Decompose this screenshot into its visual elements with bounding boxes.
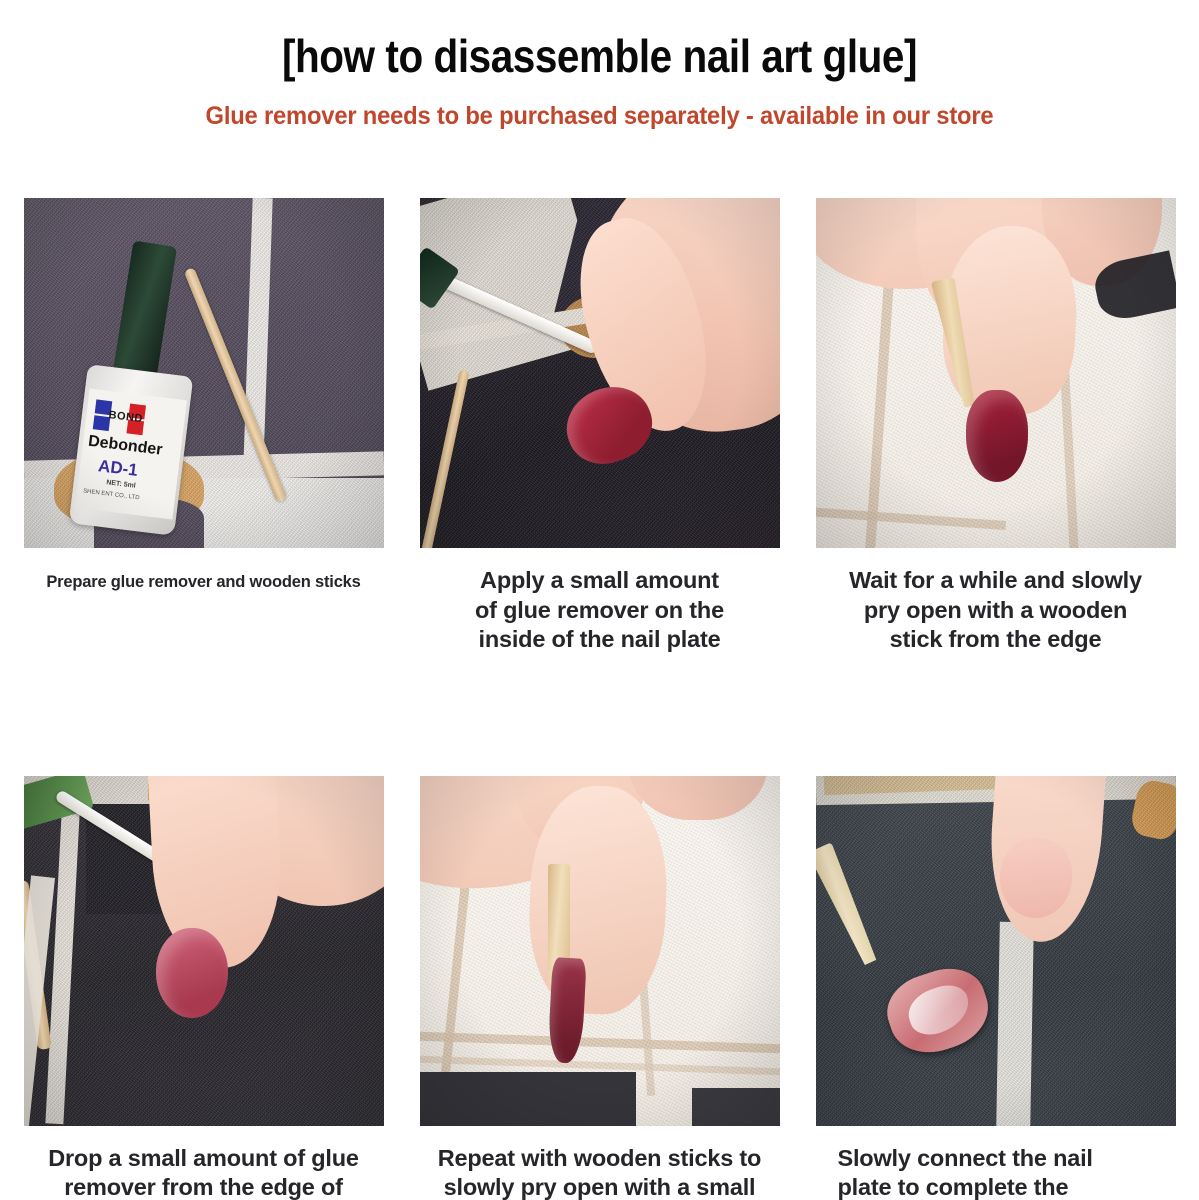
infographic-page: [how to disassemble nail art glue] Glue … [0,0,1199,1200]
caption-line: stick from the edge [820,625,1172,655]
photo-pry-open-with-stick [816,198,1176,548]
caption-line: Apply a small amount [424,566,776,596]
mat-dark-square [692,1088,780,1126]
caption-line: Slowly connect the nail [838,1144,1172,1174]
bottle-label: BOND Debonder AD-1 NET: 5ml SHEN ENT CO.… [75,388,187,519]
page-title: [how to disassemble nail art glue] [72,32,1127,80]
step-card-4: Drop a small amount of glue remover from… [24,776,384,1200]
caption-line: slowly pry open with a small [424,1173,776,1200]
caption-line: inside of the nail plate [424,625,776,655]
caption-line: of glue remover on the [424,596,776,626]
step-card-3: Wait for a while and slowly pry open wit… [816,198,1176,655]
page-subtitle: Glue remover needs to be purchased separ… [30,102,1169,131]
photo-nail-plate-removed [816,776,1176,1126]
steps-grid: BOND Debonder AD-1 NET: 5ml SHEN ENT CO.… [0,198,1199,1200]
nail [966,390,1028,482]
photo-apply-glue-remover [420,198,780,548]
step-card-6: Slowly connect the nail plate to complet… [816,776,1176,1200]
caption-line: Repeat with wooden sticks to [424,1144,776,1174]
mat-band [996,922,1034,1126]
step-card-2: Apply a small amount of glue remover on … [420,198,780,655]
header: [how to disassemble nail art glue] Glue … [0,0,1199,131]
caption-line: Drop a small amount of glue [28,1144,380,1174]
photo-glue-remover-and-sticks: BOND Debonder AD-1 NET: 5ml SHEN ENT CO.… [24,198,384,548]
step-caption-1: Prepare glue remover and wooden sticks [24,572,384,593]
bottle-net: NET: 5ml [105,479,135,490]
caption-line: plate to complete the [838,1173,1172,1200]
step-caption-5: Repeat with wooden sticks to slowly pry … [420,1144,780,1200]
step-caption-3: Wait for a while and slowly pry open wit… [816,566,1176,655]
nail [156,928,228,1018]
caption-line: remover from the edge of [28,1173,380,1200]
bottle-code: AD-1 [97,456,139,481]
step-card-1: BOND Debonder AD-1 NET: 5ml SHEN ENT CO.… [24,198,384,655]
mat-dark-square [420,1072,636,1126]
step-caption-4: Drop a small amount of glue remover from… [24,1144,384,1200]
step-caption-2: Apply a small amount of glue remover on … [420,566,780,655]
photo-repeat-prying [420,776,780,1126]
caption-line: Wait for a while and slowly [820,566,1172,596]
bottle-company: SHEN ENT CO., LTD [82,488,139,501]
photo-drop-remover-at-edge [24,776,384,1126]
step-card-5: Repeat with wooden sticks to slowly pry … [420,776,780,1200]
caption-line: pry open with a wooden [820,596,1172,626]
step-caption-6: Slowly connect the nail plate to complet… [816,1144,1176,1200]
bottle-product: Debonder [87,433,163,460]
caption-line: Prepare glue remover and wooden sticks [28,572,380,593]
